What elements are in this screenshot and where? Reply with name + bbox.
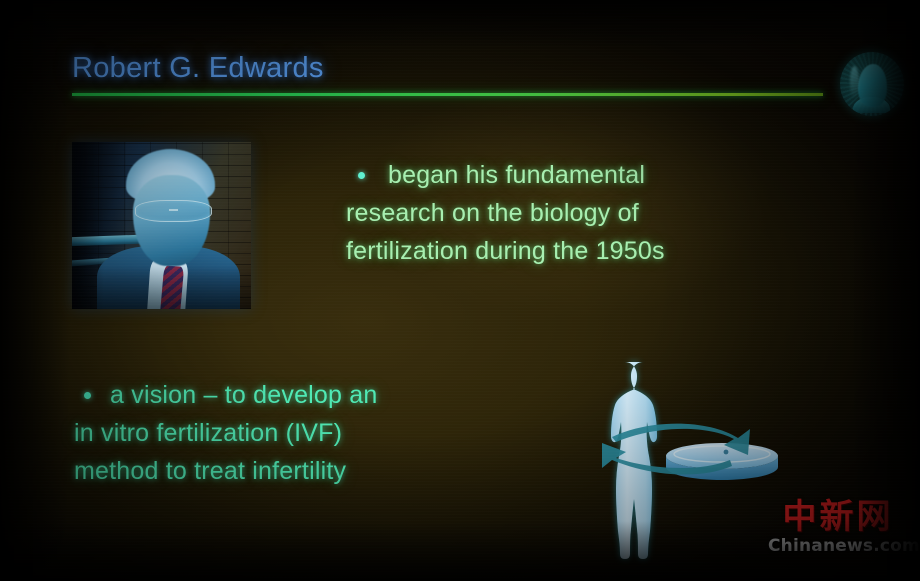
bullet-item-1: began his fundamentalresearch on the bio… (358, 156, 798, 270)
bullet-1-line-3: fertilization during the 1950s (346, 232, 798, 270)
watermark-latin-text: Chinanews.com (768, 536, 908, 556)
portrait-photo (72, 142, 251, 309)
bullet-1-line-2: research on the biology of (346, 194, 798, 232)
medal-portrait-profile (858, 64, 887, 108)
watermark-chinese-text: 中新网 (768, 498, 908, 536)
ivf-cycle-diagram (560, 340, 790, 581)
bullet-dot-2 (84, 392, 91, 399)
bullet-2-line-3: method to treat infertility (74, 452, 502, 490)
nobel-prize-medal-icon (840, 52, 904, 116)
bullet-item-2: a vision – to develop anin vitro fertili… (82, 376, 502, 490)
bullet-dot-1 (358, 172, 365, 179)
title-underline-rule (72, 93, 823, 96)
presentation-slide: Robert G. Edwards began his fundamentalr… (0, 0, 920, 581)
page-title: Robert G. Edwards (72, 52, 324, 85)
bullet-text-2: a vision – to develop anin vitro fertili… (82, 376, 502, 490)
bullet-text-1: began his fundamentalresearch on the bio… (358, 156, 798, 270)
bullet-2-line-1: a vision – to develop an (110, 381, 377, 409)
photo-edge-shading (72, 142, 251, 309)
chinanews-watermark: 中新网 Chinanews.com (768, 498, 908, 556)
bullet-1-line-1: began his fundamental (388, 161, 645, 189)
bullet-2-line-2: in vitro fertilization (IVF) (74, 414, 502, 452)
embryo-dot (724, 450, 729, 455)
